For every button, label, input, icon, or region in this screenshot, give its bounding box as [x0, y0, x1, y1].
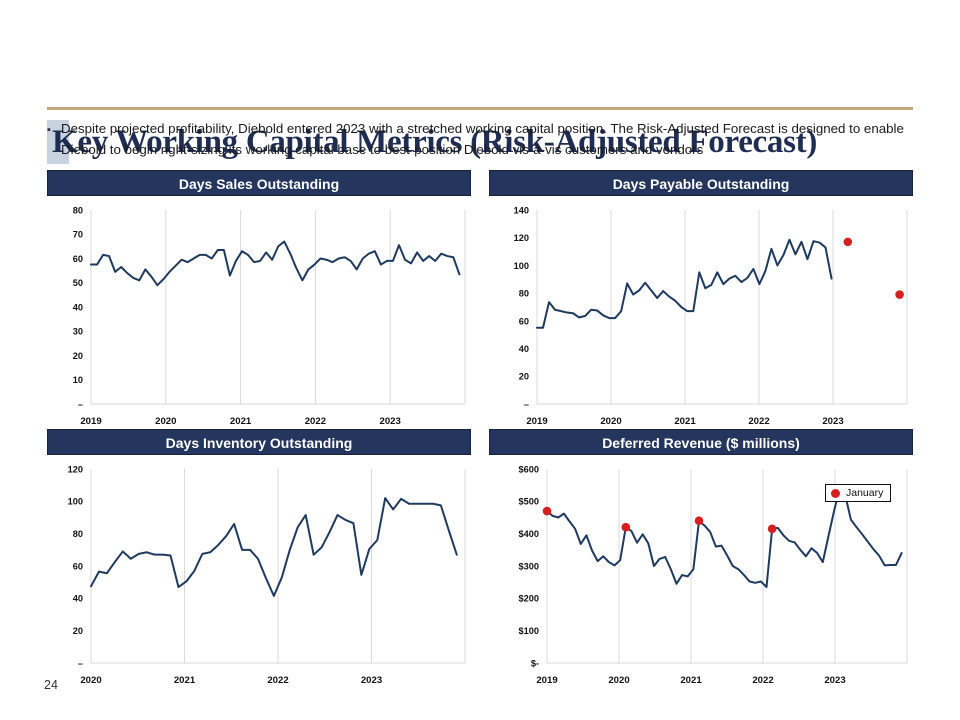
x-axis-tick-label: 2019	[536, 675, 557, 686]
x-axis-tick-label: 2020	[600, 416, 621, 427]
bullet-block: ▪ Despite projected profitability, Diebo…	[47, 118, 927, 160]
y-axis-tick-label: 80	[519, 289, 529, 299]
y-axis-tick-label: 30	[73, 327, 83, 337]
legend-marker-january-icon	[831, 489, 840, 498]
x-axis-tick-label: 2021	[674, 416, 696, 427]
chart-marker-january	[768, 525, 777, 534]
y-axis-tick-label: $500	[519, 497, 539, 507]
chart-plot-deferred-revenue: 20192020202120222023$-$100$200$300$400$5…	[489, 455, 913, 693]
y-axis-tick-label: 60	[73, 561, 83, 571]
chart-title-days-sales-outstanding: Days Sales Outstanding	[47, 170, 471, 196]
page-number: 24	[44, 678, 58, 692]
x-axis-tick-label: 2020	[608, 675, 629, 686]
y-axis-tick-label: 80	[73, 529, 83, 539]
y-axis-tick-label: $600	[519, 464, 539, 474]
x-axis-tick-label: 2022	[305, 416, 326, 427]
x-axis-tick-label: 2020	[155, 416, 176, 427]
chart-title-days-payable-outstanding: Days Payable Outstanding	[489, 170, 913, 196]
x-axis-tick-label: 2021	[174, 675, 196, 686]
y-axis-tick-label: 20	[519, 372, 529, 382]
bullet-list-item: ▪ Despite projected profitability, Diebo…	[47, 118, 927, 160]
y-axis-tick-label: –	[78, 399, 83, 409]
x-axis-tick-label: 2019	[526, 416, 547, 427]
x-axis-tick-label: 2019	[80, 416, 101, 427]
bullet-text: Despite projected profitability, Diebold…	[61, 118, 927, 160]
chart-plot-days-sales-outstanding: 20192020202120222023–1020304050607080	[47, 196, 471, 434]
y-axis-tick-label: –	[78, 658, 83, 668]
chart-series-line	[547, 488, 902, 587]
y-axis-tick-label: 70	[73, 230, 83, 240]
chart-panel-days-sales-outstanding: Days Sales Outstanding 20192020202120222…	[47, 170, 471, 434]
chart-panel-days-payable-outstanding: Days Payable Outstanding 201920202021202…	[489, 170, 913, 434]
chart-marker-january	[695, 516, 704, 525]
chart-title-days-inventory-outstanding: Days Inventory Outstanding	[47, 429, 471, 455]
y-axis-tick-label: 40	[73, 302, 83, 312]
chart-title-deferred-revenue: Deferred Revenue ($ millions)	[489, 429, 913, 455]
chart-panel-days-inventory-outstanding: Days Inventory Outstanding 2020202120222…	[47, 429, 471, 693]
y-axis-tick-label: 120	[514, 233, 529, 243]
chart-series-line	[537, 240, 832, 328]
y-axis-tick-label: $300	[519, 561, 539, 571]
chart-series-line	[91, 498, 457, 596]
y-axis-tick-label: –	[524, 399, 529, 409]
x-axis-tick-label: 2022	[267, 675, 288, 686]
y-axis-tick-label: 60	[519, 316, 529, 326]
chart-marker-january	[844, 238, 853, 247]
y-axis-tick-label: 20	[73, 626, 83, 636]
y-axis-tick-label: 40	[73, 594, 83, 604]
x-axis-tick-label: 2022	[748, 416, 769, 427]
x-axis-tick-label: 2023	[824, 675, 845, 686]
bullet-marker-icon: ▪	[47, 118, 61, 141]
x-axis-tick-label: 2021	[230, 416, 252, 427]
x-axis-tick-label: 2023	[380, 416, 401, 427]
y-axis-tick-label: 50	[73, 278, 83, 288]
y-axis-tick-label: 100	[514, 261, 529, 271]
chart-plot-days-payable-outstanding: 20192020202120222023–20406080100120140	[489, 196, 913, 434]
legend-label-january: January	[846, 487, 883, 499]
y-axis-tick-label: $200	[519, 594, 539, 604]
y-axis-tick-label: 100	[68, 497, 83, 507]
chart-legend-deferred-revenue: January	[825, 484, 891, 502]
y-axis-tick-label: 60	[73, 254, 83, 264]
y-axis-tick-label: 40	[519, 344, 529, 354]
y-axis-tick-label: 20	[73, 351, 83, 361]
x-axis-tick-label: 2022	[752, 675, 773, 686]
chart-marker-january	[895, 290, 904, 299]
chart-plot-days-inventory-outstanding: 2020202120222023–20406080100120	[47, 455, 471, 693]
x-axis-tick-label: 2023	[822, 416, 843, 427]
y-axis-tick-label: $100	[519, 626, 539, 636]
chart-marker-january	[543, 507, 552, 516]
chart-panel-deferred-revenue: Deferred Revenue ($ millions) 2019202020…	[489, 429, 913, 693]
y-axis-tick-label: 140	[514, 205, 529, 215]
x-axis-tick-label: 2023	[361, 675, 382, 686]
y-axis-tick-label: 120	[68, 464, 83, 474]
chart-series-line	[91, 242, 459, 286]
y-axis-tick-label: $400	[519, 529, 539, 539]
y-axis-tick-label: 10	[73, 375, 83, 385]
y-axis-tick-label: $-	[531, 658, 539, 668]
y-axis-tick-label: 80	[73, 205, 83, 215]
chart-marker-january	[622, 523, 631, 532]
title-divider-rule	[47, 107, 913, 110]
x-axis-tick-label: 2020	[80, 675, 101, 686]
x-axis-tick-label: 2021	[680, 675, 702, 686]
